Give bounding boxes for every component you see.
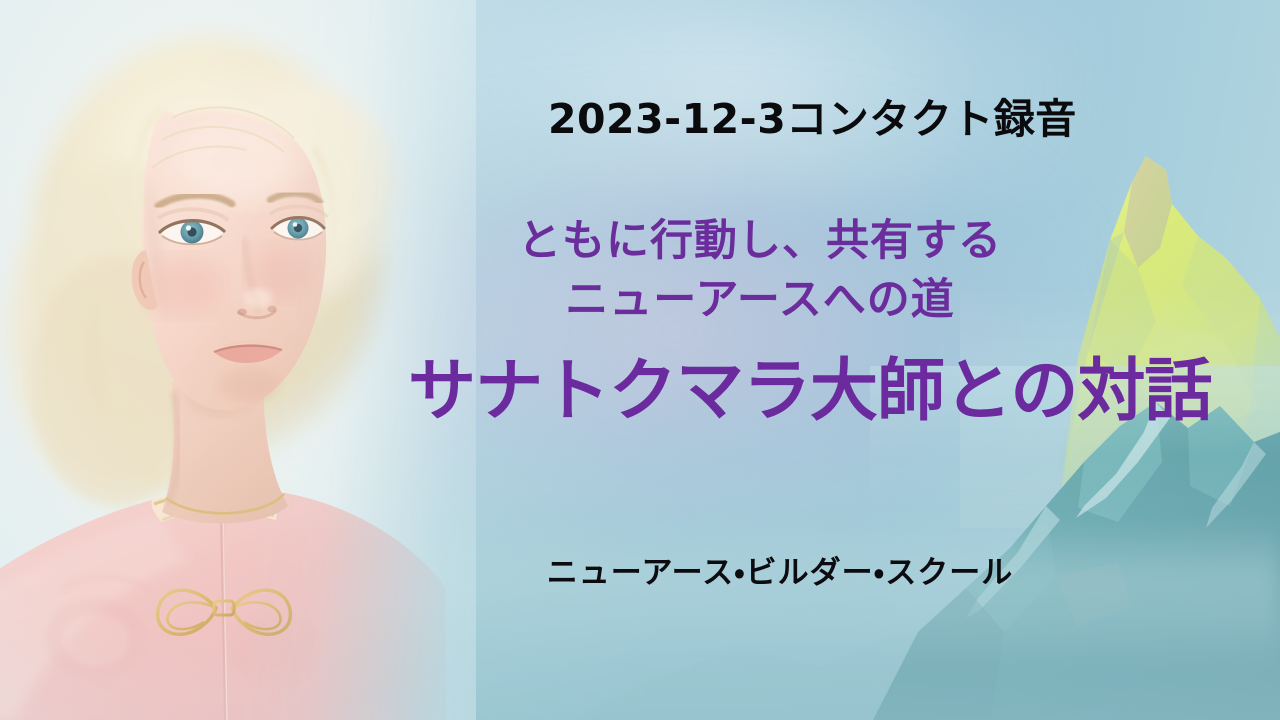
subtitle-line-1: ともに行動し、共有する: [400, 212, 1120, 271]
recording-date-label: 2023-12-3コンタクト録音: [548, 97, 1077, 142]
main-headline: サナトクマラ大師との対話: [408, 356, 1211, 427]
subtitle-block: ともに行動し、共有する ニューアースへの道: [400, 212, 1120, 331]
organization-name: ニューアース・ビルダー・スクール: [400, 547, 1160, 592]
subtitle-line-2: ニューアースへの道: [400, 271, 1120, 330]
title-text-layer: 2023-12-3コンタクト録音 ともに行動し、共有する ニューアースへの道 サ…: [0, 0, 1280, 720]
video-thumbnail-slide: 2023-12-3コンタクト録音 ともに行動し、共有する ニューアースへの道 サ…: [0, 0, 1280, 720]
